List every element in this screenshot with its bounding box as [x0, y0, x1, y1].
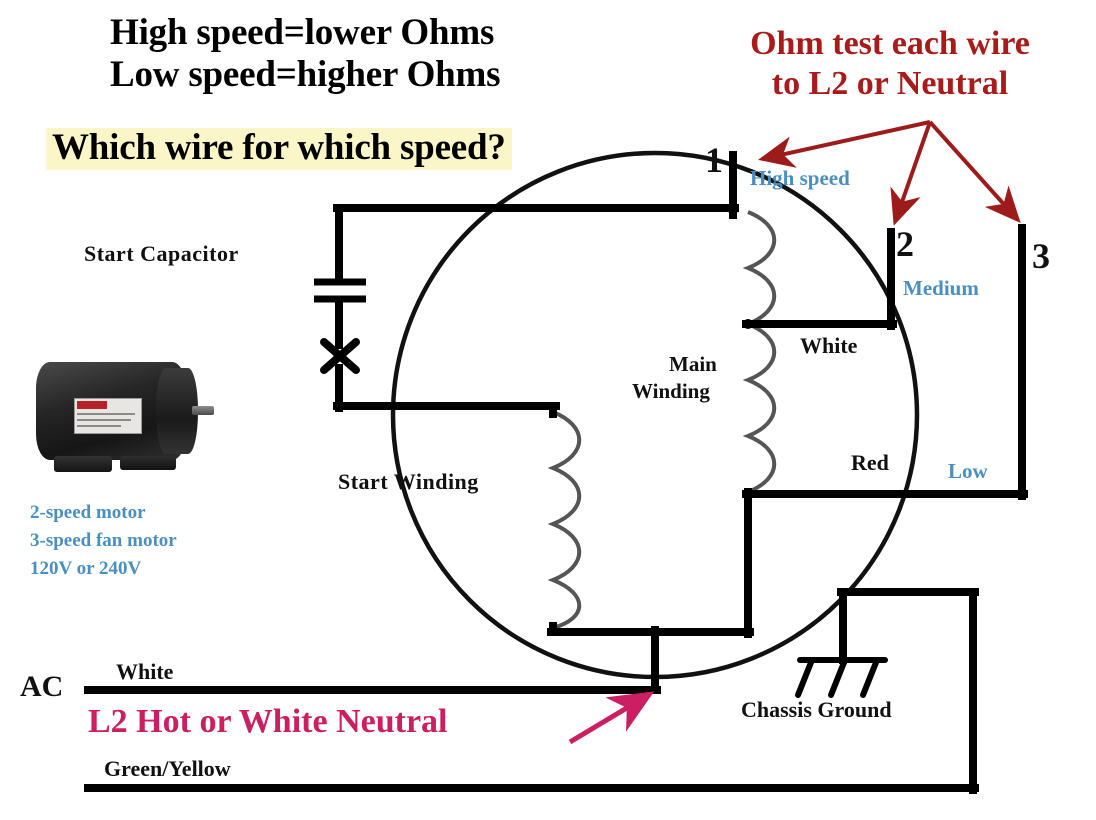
motor-nameplate-text — [77, 413, 135, 415]
heading-high-speed: High speed=lower Ohms — [110, 14, 494, 52]
heading-low-speed: Low speed=higher Ohms — [110, 56, 500, 94]
start-winding-coil — [553, 412, 579, 628]
motor-note-line3: 120V or 240V — [30, 559, 141, 578]
motor-body-outline — [393, 153, 917, 677]
terminal-3-number: 3 — [1032, 238, 1050, 275]
motor-nameplate-brand — [77, 401, 107, 409]
label-red-wire-terminal-3: Red — [851, 452, 889, 474]
label-white-supply: White — [116, 661, 173, 683]
arrow-to-terminal-3 — [930, 122, 1018, 220]
label-ac: AC — [20, 672, 63, 703]
label-medium: Medium — [903, 278, 979, 299]
diagram-canvas: High speed=lower Ohms Low speed=higher O… — [0, 0, 1096, 820]
motor-nameplate-text — [77, 425, 121, 427]
label-chassis-ground: Chassis Ground — [741, 699, 892, 721]
motor-photo — [28, 356, 213, 484]
main-winding-coil — [748, 212, 774, 492]
motor-foot-right — [120, 456, 176, 470]
neutral-callout-arrow — [570, 694, 650, 742]
label-l2-hot-neutral: L2 Hot or White Neutral — [88, 705, 448, 740]
heading-which-wire: Which wire for which speed? — [46, 128, 512, 170]
chassis-ground-icon — [798, 660, 885, 695]
label-white-wire-terminal-2: White — [800, 335, 857, 357]
motor-foot-left — [54, 456, 112, 472]
heading-ohm-test-line2: to L2 or Neutral — [690, 66, 1090, 101]
label-start-winding: Start Winding — [338, 471, 479, 493]
motor-note-line2: 3-speed fan motor — [30, 531, 177, 550]
label-start-capacitor: Start Capacitor — [84, 243, 239, 265]
motor-nameplate-text — [77, 419, 131, 421]
label-high-speed: High speed — [750, 168, 850, 189]
heading-ohm-test-line1: Ohm test each wire — [690, 26, 1090, 61]
label-low: Low — [948, 461, 988, 482]
terminal-2-number: 2 — [896, 226, 914, 263]
motor-shaft — [192, 406, 214, 415]
arrow-to-terminal-2 — [895, 122, 930, 222]
label-main-winding-line1: Main — [669, 354, 717, 375]
junction-dots — [650, 205, 753, 637]
label-green-yellow-supply: Green/Yellow — [104, 758, 231, 780]
start-capacitor-symbol — [314, 282, 366, 299]
terminal-1-number: 1 — [705, 142, 723, 179]
motor-note-line1: 2-speed motor — [30, 503, 146, 522]
arrow-to-terminal-1 — [762, 122, 930, 159]
label-main-winding-line2: Winding — [632, 381, 710, 402]
